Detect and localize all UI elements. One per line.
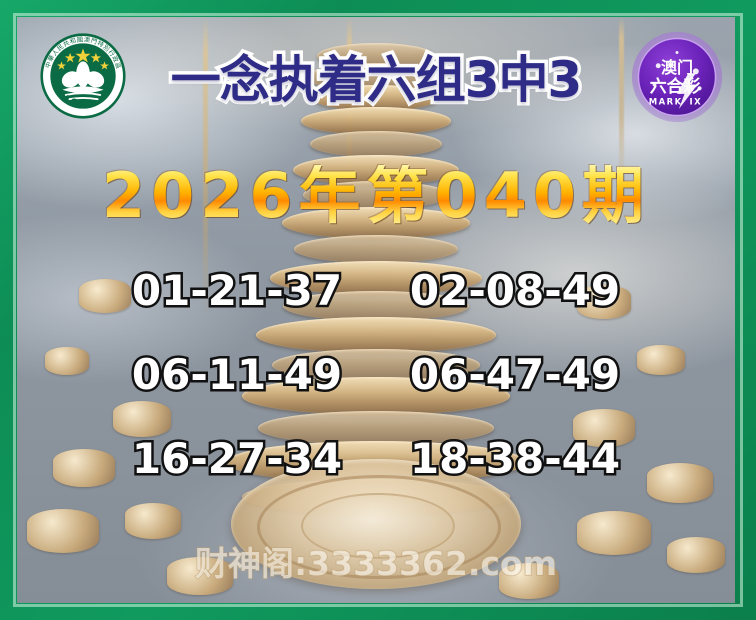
number-cell: 02-08-49 [407,269,623,313]
number-cell: 06-47-49 [407,353,623,397]
coin-disc [310,131,442,157]
number-cell: 01-21-37 [129,269,345,313]
issue-label: 2026年第040期 [17,165,735,227]
number-row: 06-11-49 06-47-49 [129,353,623,397]
mark-six-badge: 澳门 六合彩 MARK IX [630,30,724,124]
number-cell: 06-11-49 [129,353,345,397]
number-row: 01-21-37 02-08-49 [129,269,623,313]
coin-disc [294,235,458,263]
svg-text:澳门: 澳门 [661,58,693,77]
lottery-poster: 中華人民共和國澳門特別行政區 MACAU [0,0,756,620]
number-cell: 16-27-34 [129,437,345,481]
macau-sar-emblem: 中華人民共和國澳門特別行政區 MACAU [40,33,126,119]
poster-artwork-canvas: 中華人民共和國澳門特別行政區 MACAU [17,17,735,603]
svg-text:MARK: MARK [649,96,683,106]
scatter-coin [125,503,181,539]
svg-text:六合彩: 六合彩 [650,76,701,96]
number-cell: 18-38-44 [407,437,623,481]
number-row: 16-27-34 18-38-44 [129,437,623,481]
site-watermark: 财神阁:3333362.com [17,537,735,585]
number-grid: 01-21-37 02-08-49 06-11-49 06-47-49 16-2… [17,269,735,481]
svg-text:IX: IX [689,96,702,106]
